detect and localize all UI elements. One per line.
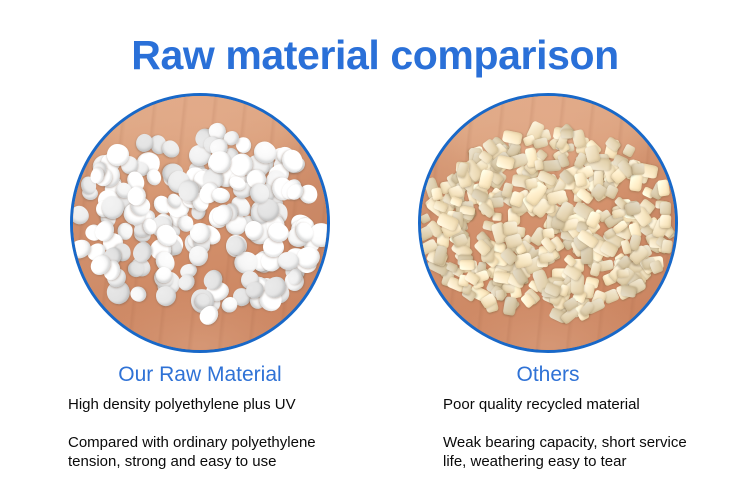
our-raw-material-subtitle: High density polyethylene plus UV bbox=[35, 395, 365, 414]
our-raw-material-body-line: Compared with ordinary polyethylene bbox=[68, 433, 365, 452]
pellet bbox=[659, 215, 671, 228]
pellet bbox=[629, 174, 643, 193]
pellet bbox=[657, 179, 670, 196]
our-raw-material-heading: Our Raw Material bbox=[35, 362, 365, 388]
pellet bbox=[128, 284, 149, 305]
others-heading: Others bbox=[383, 362, 713, 388]
others-raw-material-photo bbox=[418, 93, 678, 353]
pellet bbox=[622, 144, 636, 158]
page-title: Raw material comparison bbox=[0, 32, 750, 79]
pellet bbox=[495, 289, 504, 300]
pellet bbox=[589, 262, 601, 277]
pellet bbox=[533, 137, 549, 149]
raw-material-comparison-infographic: Raw material comparison Our Raw Material… bbox=[0, 0, 750, 497]
pellet bbox=[620, 285, 636, 298]
others-body-line: Weak bearing capacity, short service bbox=[443, 433, 713, 452]
pellet bbox=[460, 259, 475, 269]
right-caption-column: Others Poor quality recycled material We… bbox=[383, 362, 713, 471]
others-body: Weak bearing capacity, short service lif… bbox=[383, 433, 713, 471]
our-raw-material-body: Compared with ordinary polyethylene tens… bbox=[35, 433, 365, 471]
pellet bbox=[145, 168, 163, 187]
cream-pellet-heap bbox=[423, 125, 673, 321]
our-raw-material-photo bbox=[70, 93, 330, 353]
white-pellet-heap bbox=[75, 125, 325, 321]
others-subtitle: Poor quality recycled material bbox=[383, 395, 713, 414]
pellet bbox=[560, 129, 572, 139]
pellet bbox=[189, 246, 209, 267]
pellet bbox=[617, 269, 629, 278]
pellet bbox=[660, 202, 671, 215]
others-body-line: life, weathering easy to tear bbox=[443, 452, 713, 471]
pellet bbox=[632, 163, 645, 174]
our-raw-material-body-line: tension, strong and easy to use bbox=[68, 452, 365, 471]
pellet bbox=[661, 239, 672, 253]
pellet bbox=[503, 296, 517, 316]
left-caption-column: Our Raw Material High density polyethyle… bbox=[35, 362, 365, 471]
